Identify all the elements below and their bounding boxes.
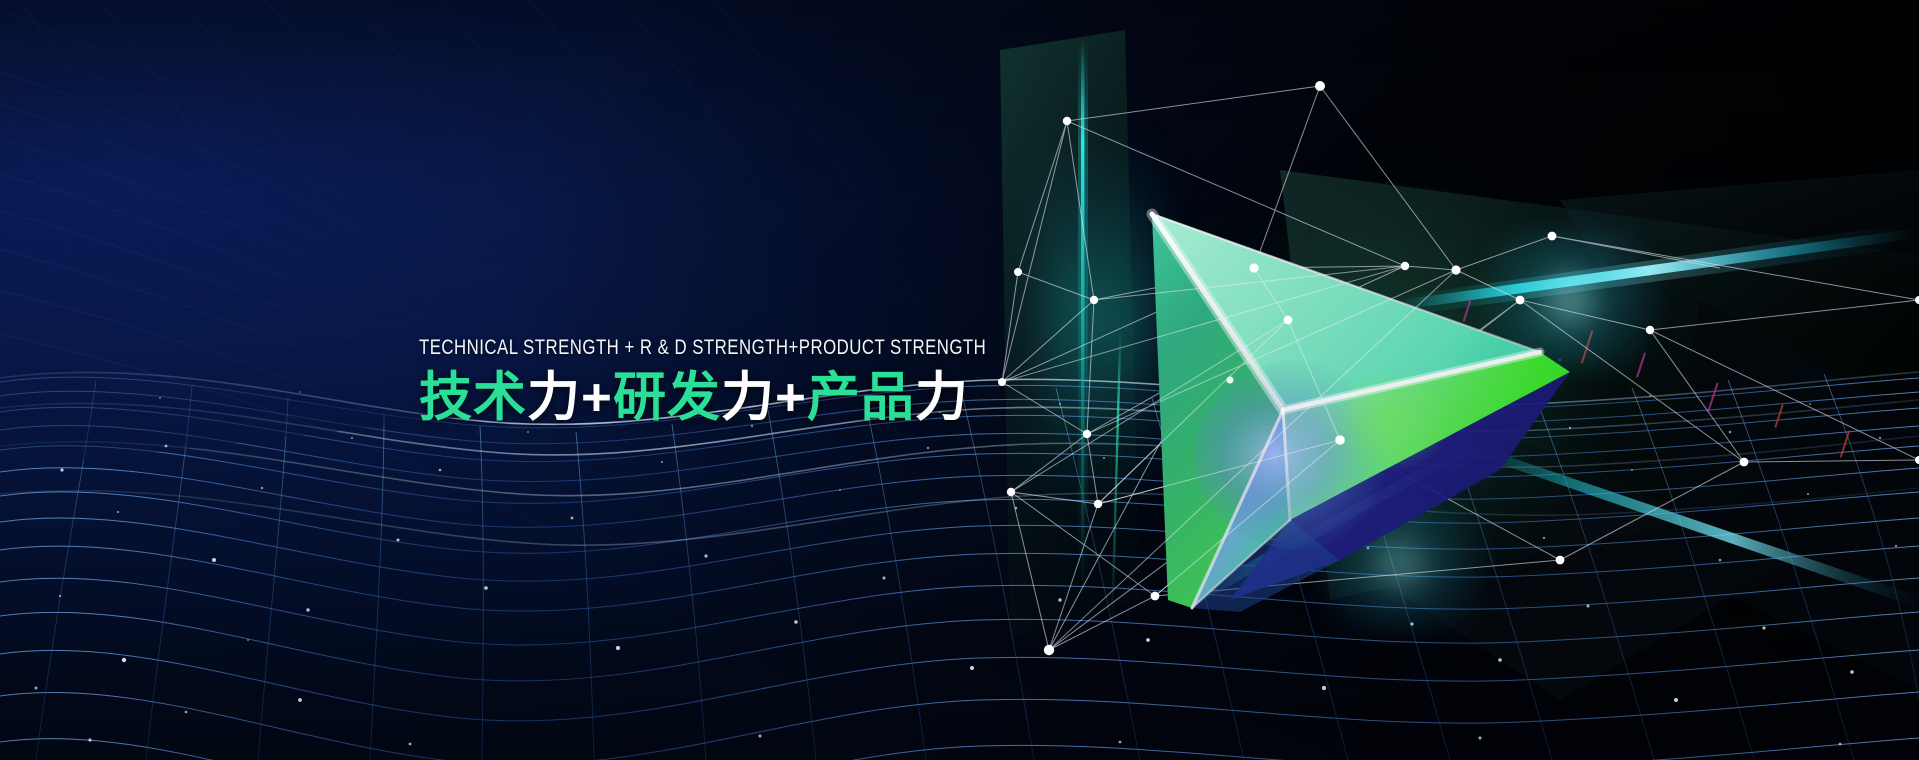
hero-banner: TECHNICAL STRENGTH + R & D STRENGTH+PROD… <box>0 0 1919 760</box>
headline-segment-7: 产品 <box>807 368 915 427</box>
lens-flare-lower <box>1280 500 1520 630</box>
headline-segment-4: 研发 <box>613 368 721 427</box>
hero-headline: 技术力+研发力+产品力 <box>419 360 1128 430</box>
hero-text-block: TECHNICAL STRENGTH + R & D STRENGTH+PROD… <box>419 336 1128 430</box>
headline-segment-1: 技术 <box>419 368 527 427</box>
headline-segment-5: 力 <box>721 368 775 427</box>
headline-segment-2: 力 <box>527 368 581 427</box>
headline-segment-8: 力 <box>915 368 969 427</box>
headline-segment-6: + <box>775 368 807 427</box>
lens-flare-upper-right <box>1440 230 1700 370</box>
headline-segment-3: + <box>581 368 613 427</box>
hero-eyebrow: TECHNICAL STRENGTH + R & D STRENGTH+PROD… <box>419 336 986 360</box>
